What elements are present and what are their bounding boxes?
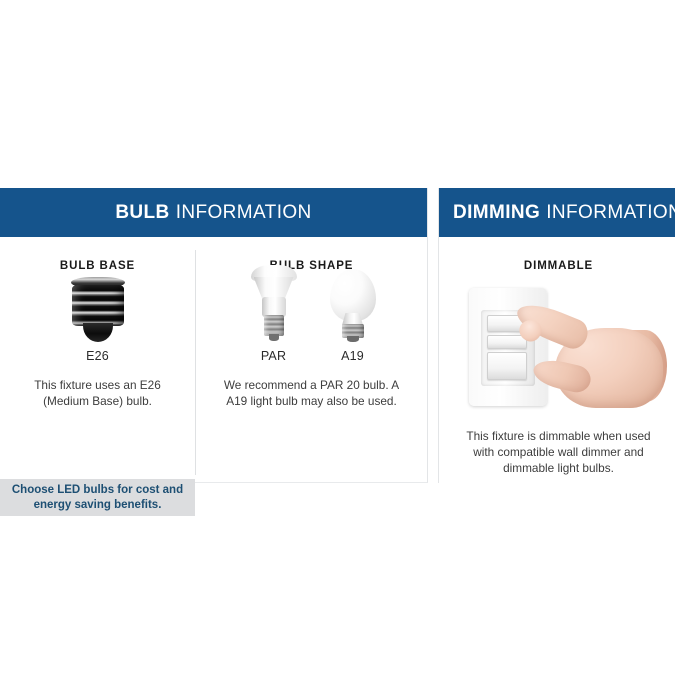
par-bulb-screw-base: [264, 315, 284, 336]
par-bulb-caption: PAR: [261, 349, 286, 363]
par-bulb-contact-tip: [269, 334, 279, 341]
bulb-base-column: BULB BASE E26 This fixture uses an E26 (…: [0, 237, 195, 483]
par-bulb-cell: PAR: [248, 265, 300, 363]
bulb-information-panel: BULB INFORMATION BULB BASE E26: [0, 188, 428, 483]
par-bulb-reflector: [254, 277, 294, 299]
par-bulb-icon: [248, 265, 300, 343]
hand-index-finger: [512, 297, 592, 353]
bulb-base-caption: E26: [86, 349, 109, 363]
a19-bulb-caption: A19: [341, 349, 364, 363]
dimming-header-light: INFORMATION: [546, 202, 675, 224]
bulb-information-header: BULB INFORMATION: [0, 188, 427, 237]
e26-base-threads: [72, 285, 124, 326]
a19-bulb-contact-tip: [347, 336, 359, 342]
bulb-header-strong: BULB: [115, 202, 169, 224]
led-callout-box: Choose LED bulbs for cost and energy sav…: [0, 479, 195, 516]
dimming-description: This fixture is dimmable when used with …: [439, 410, 675, 476]
bulb-information-body: BULB BASE E26 This fixture uses an E26 (…: [0, 237, 427, 483]
led-callout-text: Choose LED bulbs for cost and energy sav…: [0, 483, 195, 513]
bulb-shape-column: BULB SHAPE PAR: [196, 237, 427, 483]
bulb-header-light: INFORMATION: [176, 202, 312, 224]
hand-graphic: [503, 300, 663, 410]
wall-dimmer-switch-with-hand-icon: [451, 282, 666, 410]
bulb-base-description: This fixture uses an E26 (Medium Base) b…: [0, 363, 195, 409]
e26-screw-base-icon: [70, 277, 126, 343]
a19-bulb-cell: A19: [330, 269, 376, 363]
dimming-information-panel: DIMMING INFORMATION DIMMABLE: [438, 188, 675, 483]
product-info-graphic: BULB INFORMATION BULB BASE E26: [0, 0, 675, 675]
dimmable-label: DIMMABLE: [439, 237, 675, 272]
bulb-base-icon-row: E26: [0, 281, 195, 363]
par-bulb-neck: [262, 297, 286, 317]
a19-bulb-icon: [330, 269, 376, 343]
dimming-header-strong: DIMMING: [453, 202, 540, 224]
bulb-shape-label: BULB SHAPE: [196, 237, 427, 272]
bulb-shape-description: We recommend a PAR 20 bulb. A A19 light …: [196, 363, 427, 409]
e26-base-contact-tip: [83, 323, 113, 342]
bulb-base-icon-cell: E26: [70, 277, 126, 363]
hand-fingertip: [516, 317, 544, 345]
bulb-shape-icon-row: PAR A19: [196, 281, 427, 363]
bulb-base-label: BULB BASE: [0, 237, 195, 272]
dimming-information-header: DIMMING INFORMATION: [439, 188, 675, 237]
dimming-information-body: DIMMABLE T: [439, 237, 675, 483]
